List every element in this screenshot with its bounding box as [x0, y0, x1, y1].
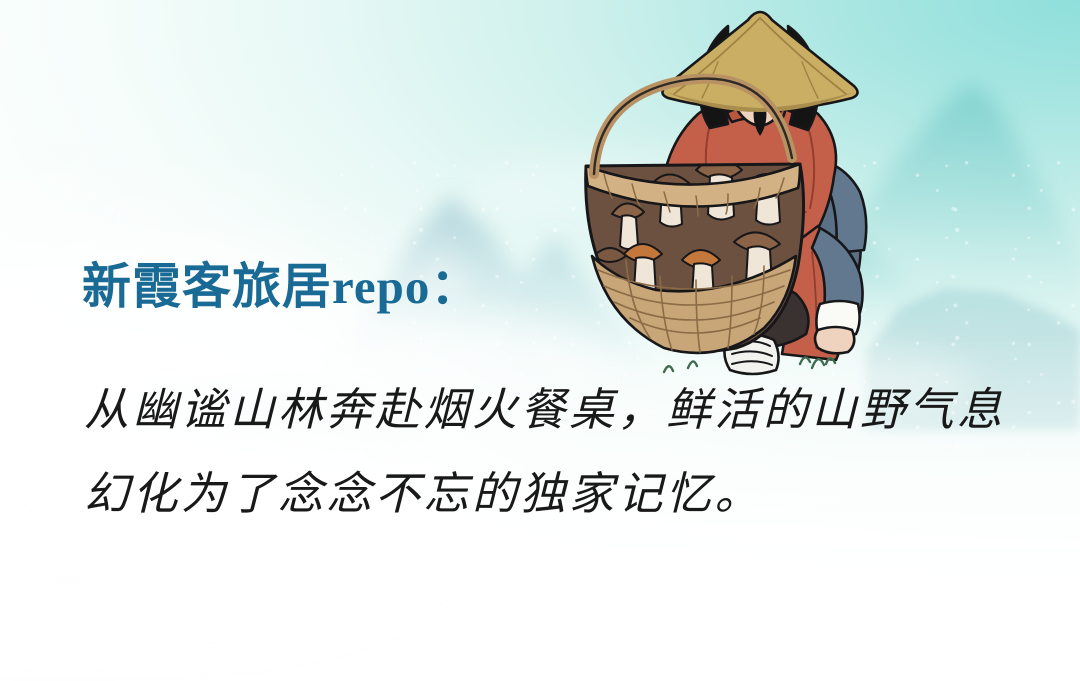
- page-title: 新霞客旅居repo：: [82, 247, 480, 318]
- body-paragraph: 从幽谧山林奔赴烟火餐桌，鲜活的山野气息幻化为了念念不忘的独家记忆。: [84, 368, 1014, 536]
- poster-canvas: 新霞客旅居repo： 从幽谧山林奔赴烟火餐桌，鲜活的山野气息幻化为了念念不忘的独…: [0, 0, 1080, 681]
- background-left-white-wash: [0, 0, 1080, 681]
